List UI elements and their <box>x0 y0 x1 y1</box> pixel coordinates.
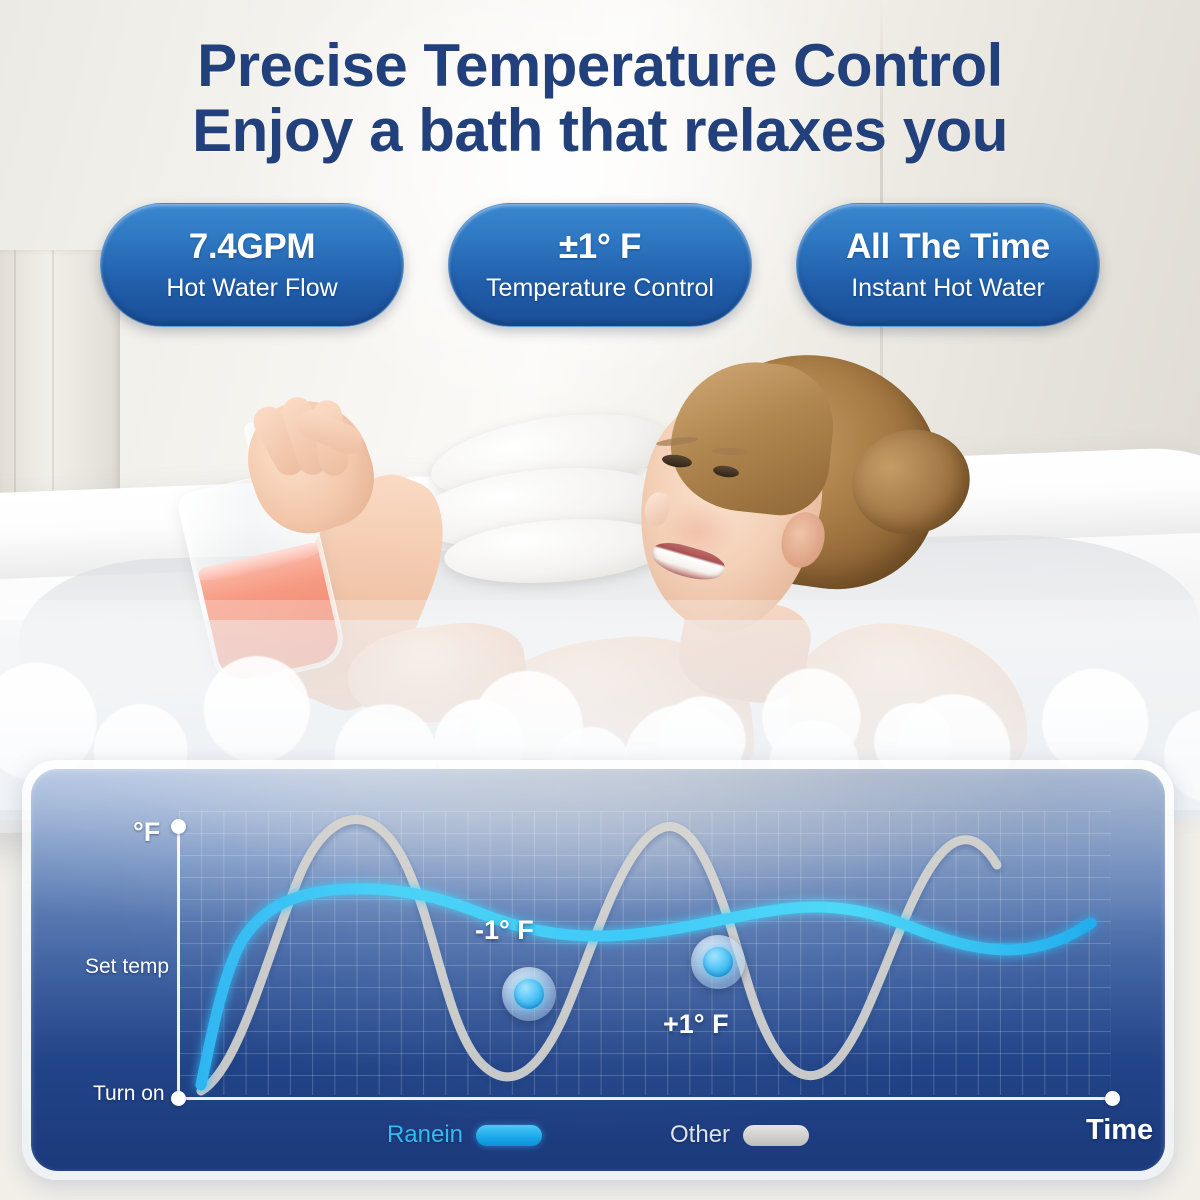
chart-plot-area <box>179 811 1111 1095</box>
badge-hot-water-flow[interactable]: 7.4GPM Hot Water Flow <box>100 203 404 327</box>
y-tick-turn-on: Turn on <box>93 1082 165 1106</box>
annotation-plus-one-degree: +1° F <box>663 1009 729 1040</box>
headline-line-2: Enjoy a bath that relaxes you <box>0 101 1200 160</box>
temperature-chart-panel: °F Set temp Turn on Time -1° F +1° F Ran… <box>31 769 1165 1171</box>
curve-other <box>201 820 997 1091</box>
temperature-chart-frame: °F Set temp Turn on Time -1° F +1° F Ran… <box>22 760 1174 1180</box>
axis-origin-dot <box>171 1091 186 1106</box>
chart-y-axis <box>177 825 180 1099</box>
badge-temperature-control[interactable]: ±1° F Temperature Control <box>448 203 752 327</box>
legend-item-other[interactable]: Other <box>670 1121 809 1149</box>
badge-label: Temperature Control <box>486 275 714 301</box>
legend-swatch-other <box>743 1125 809 1146</box>
badge-label: Hot Water Flow <box>166 275 337 301</box>
data-point-marker-plus-one[interactable] <box>691 935 745 989</box>
page-title: Precise Temperature Control Enjoy a bath… <box>0 36 1200 161</box>
legend-label: Other <box>670 1121 730 1149</box>
badge-instant-hot-water[interactable]: All The Time Instant Hot Water <box>796 203 1100 327</box>
x-axis-cap-dot <box>1105 1091 1120 1106</box>
chart-curves <box>179 811 1111 1095</box>
chart-x-axis <box>177 1097 1113 1100</box>
data-point-marker-minus-one[interactable] <box>502 967 556 1021</box>
curve-ranein <box>201 889 1091 1085</box>
legend-label: Ranein <box>387 1121 463 1149</box>
badge-value: 7.4GPM <box>189 229 316 266</box>
legend-swatch-ranein <box>476 1125 542 1146</box>
headline-line-1: Precise Temperature Control <box>0 36 1200 95</box>
chart-legend: Ranein Other <box>31 1121 1165 1149</box>
y-axis-unit-label: °F <box>133 817 160 848</box>
badge-value: All The Time <box>846 229 1050 266</box>
feature-badge-row: 7.4GPM Hot Water Flow ±1° F Temperature … <box>0 203 1200 333</box>
y-axis-cap-dot <box>171 819 186 834</box>
badge-label: Instant Hot Water <box>851 275 1045 301</box>
badge-value: ±1° F <box>559 229 641 266</box>
y-tick-set-temp: Set temp <box>85 955 169 979</box>
annotation-minus-one-degree: -1° F <box>475 915 534 946</box>
legend-item-ranein[interactable]: Ranein <box>387 1121 542 1149</box>
